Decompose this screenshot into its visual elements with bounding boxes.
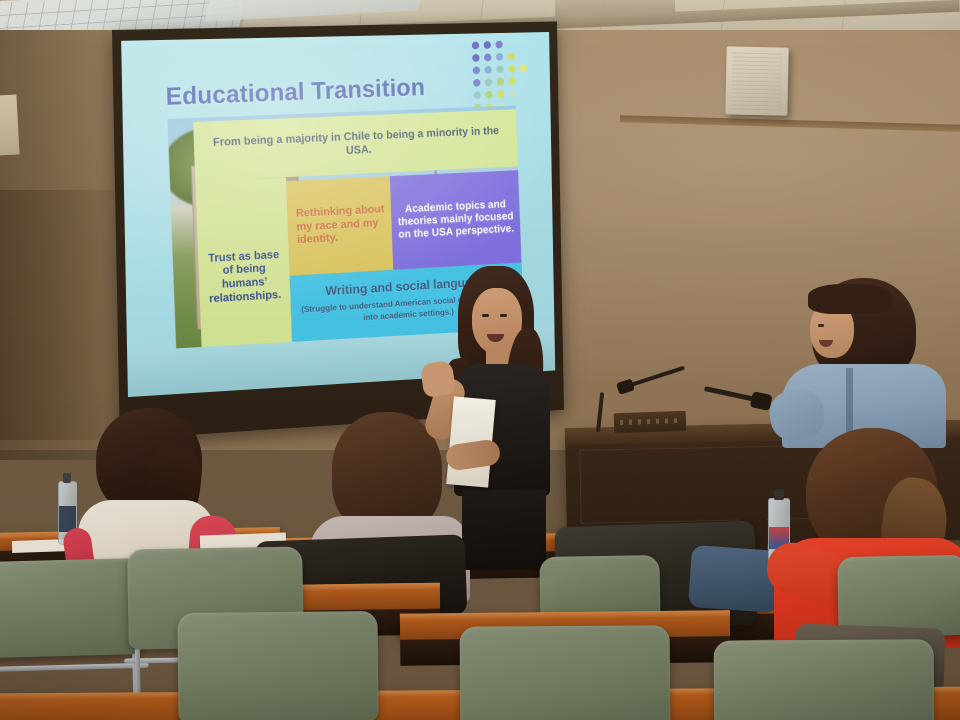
presenter-hand-raised [420, 360, 456, 398]
slide-block-race-identity: Rethinking about my race and my identity… [286, 176, 393, 276]
panelist-eye [818, 324, 824, 327]
presenter [424, 266, 574, 566]
presenter-mouth [487, 334, 504, 342]
panelist-mouth [819, 340, 833, 347]
panelist-bangs [808, 284, 892, 314]
slide-title: Educational Transition [165, 74, 425, 112]
classroom-photo-scene: Educational Transition From being a majo… [0, 0, 960, 720]
chair-front-center [460, 625, 671, 720]
chair-row2-left [0, 558, 143, 658]
chair-front-left [177, 611, 378, 720]
slide-block-academic-topics: Academic topics and theories mainly focu… [390, 170, 522, 270]
presenter-eye-right [500, 314, 507, 317]
panelist-denim [776, 278, 960, 448]
chair-front-right [714, 639, 935, 720]
wall-paper-note [0, 94, 20, 155]
presenter-eye-left [482, 314, 489, 317]
presenter-skirt [462, 490, 546, 570]
wall-speaker [725, 46, 788, 115]
av-control-panel [614, 411, 687, 434]
